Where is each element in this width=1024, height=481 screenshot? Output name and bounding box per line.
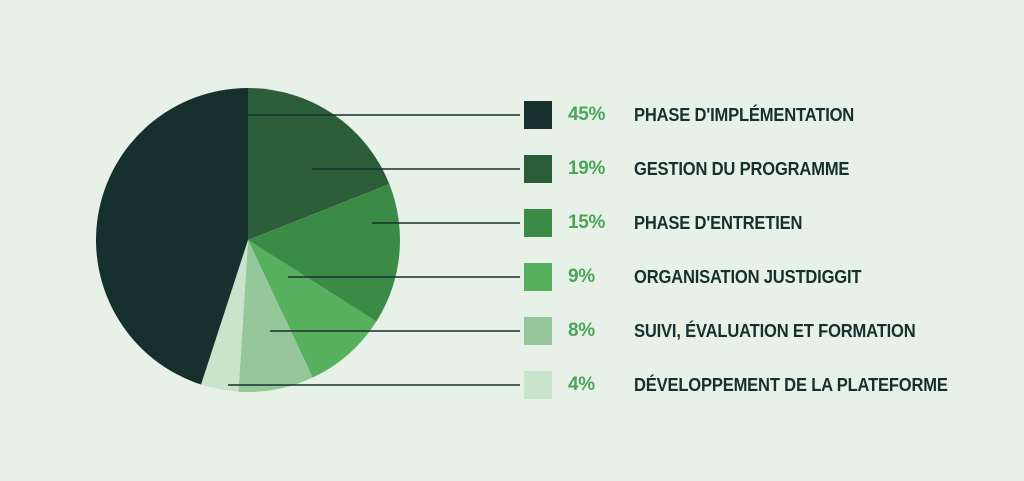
- legend-item-gestion-programme[interactable]: 19% GESTION DU PROGRAMME: [524, 142, 1004, 196]
- legend-item-phase-entretien[interactable]: 15% PHASE D'ENTRETIEN: [524, 196, 1004, 250]
- legend-label-organisation-justdiggit: ORGANISATION JUSTDIGGIT: [634, 267, 861, 288]
- legend-percent-phase-implementation: 45%: [568, 104, 634, 126]
- legend-item-developpement-plateforme[interactable]: 4% DÉVELOPPEMENT DE LA PLATEFORME: [524, 358, 1004, 412]
- legend-swatch-phase-entretien: [524, 209, 552, 237]
- pie-chart-svg: [0, 0, 520, 481]
- pie-chart-infographic: 45% PHASE D'IMPLÉMENTATION 19% GESTION D…: [0, 0, 1024, 481]
- legend-swatch-phase-implementation: [524, 101, 552, 129]
- legend-item-phase-implementation[interactable]: 45% PHASE D'IMPLÉMENTATION: [524, 88, 1004, 142]
- legend-percent-gestion-programme: 19%: [568, 158, 634, 180]
- legend-label-suivi-evaluation-formation: SUIVI, ÉVALUATION ET FORMATION: [634, 321, 916, 342]
- legend: 45% PHASE D'IMPLÉMENTATION 19% GESTION D…: [524, 88, 1004, 412]
- legend-swatch-organisation-justdiggit: [524, 263, 552, 291]
- legend-percent-developpement-plateforme: 4%: [568, 374, 634, 396]
- legend-swatch-suivi-evaluation-formation: [524, 317, 552, 345]
- legend-label-developpement-plateforme: DÉVELOPPEMENT DE LA PLATEFORME: [634, 375, 948, 396]
- legend-label-gestion-programme: GESTION DU PROGRAMME: [634, 159, 849, 180]
- legend-item-suivi-evaluation-formation[interactable]: 8% SUIVI, ÉVALUATION ET FORMATION: [524, 304, 1004, 358]
- legend-swatch-developpement-plateforme: [524, 371, 552, 399]
- legend-percent-suivi-evaluation-formation: 8%: [568, 320, 634, 342]
- pie-chart-area: [0, 0, 520, 481]
- legend-swatch-gestion-programme: [524, 155, 552, 183]
- legend-label-phase-entretien: PHASE D'ENTRETIEN: [634, 213, 802, 234]
- legend-label-phase-implementation: PHASE D'IMPLÉMENTATION: [634, 105, 854, 126]
- legend-item-organisation-justdiggit[interactable]: 9% ORGANISATION JUSTDIGGIT: [524, 250, 1004, 304]
- pie-slices-group: [96, 88, 400, 392]
- legend-percent-organisation-justdiggit: 9%: [568, 266, 634, 288]
- legend-percent-phase-entretien: 15%: [568, 212, 634, 234]
